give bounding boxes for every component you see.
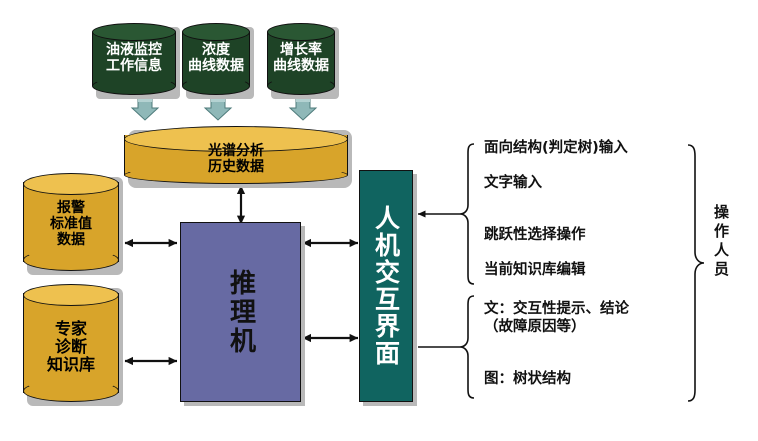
output-item-tree-graph: 图：树状结构 bbox=[484, 370, 571, 388]
data-cylinder-spectral-history: 光谱分析 历史数据 bbox=[124, 126, 348, 184]
operator-brace bbox=[688, 145, 704, 401]
feed-arrow-growth-rate bbox=[290, 98, 316, 120]
input-item-jump-select: 跳跃性选择操作 bbox=[484, 226, 586, 244]
input-group-brace bbox=[460, 144, 474, 284]
input-item-text: 文字输入 bbox=[484, 174, 542, 192]
source-cylinder-oil-monitor: 油液监控 工作信息 bbox=[92, 23, 176, 95]
feed-arrow-concentration bbox=[205, 98, 231, 120]
source-cylinder-concentration: 浓度 曲线数据 bbox=[182, 23, 250, 95]
inference-engine-label: 推理机 bbox=[228, 269, 254, 356]
feed-arrow-oil-monitor bbox=[132, 98, 158, 120]
interface-box: 人机交互界面 bbox=[359, 170, 413, 402]
source-cylinder-growth-rate: 增长率 曲线数据 bbox=[267, 23, 335, 95]
data-cylinder-alarm-standard: 报警 标准值 数据 bbox=[23, 173, 119, 271]
inference-engine-box: 推理机 bbox=[180, 222, 301, 402]
output-group-brace bbox=[460, 296, 474, 398]
input-item-kb-edit: 当前知识库编辑 bbox=[484, 261, 586, 279]
data-cylinder-expert-knowledge: 专家 诊断 知识库 bbox=[23, 284, 119, 402]
diagram-canvas: 油液监控 工作信息 浓度 曲线数据 增长率 曲线数据 光谱分析 历史数据 bbox=[0, 0, 758, 441]
input-item-structured: 面向结构(判定树)输入 bbox=[484, 139, 628, 157]
interface-label: 人机交互界面 bbox=[374, 205, 399, 367]
operator-label: 操作人员 bbox=[713, 204, 728, 280]
output-item-text-conclusion: 文：交互性提示、结论（故障原因等） bbox=[484, 300, 644, 336]
